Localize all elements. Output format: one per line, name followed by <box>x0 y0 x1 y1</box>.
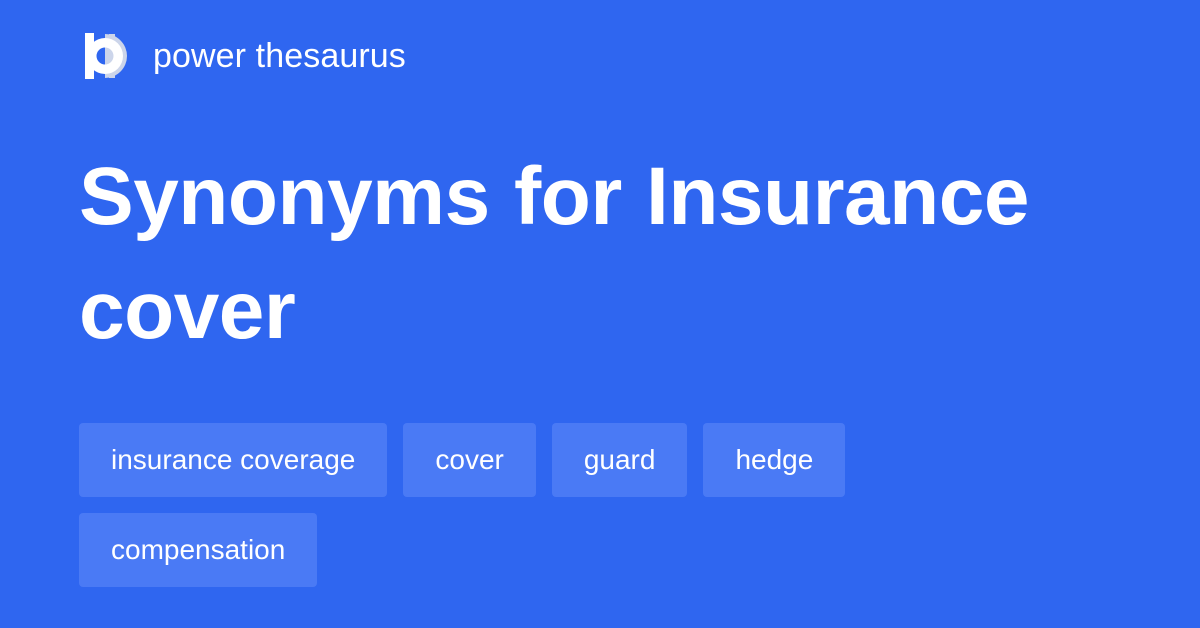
synonym-chip[interactable]: insurance coverage <box>79 423 387 497</box>
brand-name: power thesaurus <box>153 36 406 76</box>
synonym-chip[interactable]: cover <box>403 423 535 497</box>
synonym-chip-list: insurance coverage cover guard hedge com… <box>79 423 1089 587</box>
power-thesaurus-b-logo-icon <box>79 30 131 82</box>
synonym-chip[interactable]: hedge <box>703 423 845 497</box>
synonym-chip[interactable]: compensation <box>79 513 317 587</box>
synonyms-share-card: power thesaurus Synonyms for Insurance c… <box>0 0 1200 628</box>
synonym-chip[interactable]: guard <box>552 423 688 497</box>
brand-logo[interactable]: power thesaurus <box>79 28 406 84</box>
page-title: Synonyms for Insurance cover <box>79 140 1079 368</box>
